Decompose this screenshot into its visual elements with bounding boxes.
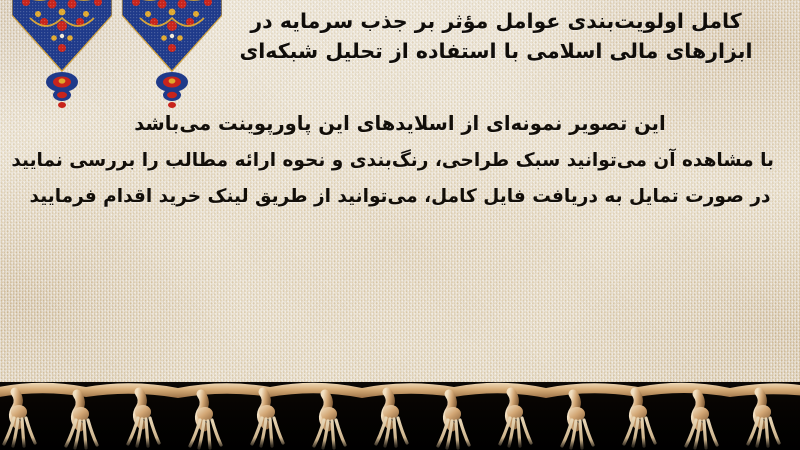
slide-body-line-1: این تصویر نمونه‌ای از اسلایدهای این پاور… bbox=[26, 108, 774, 140]
slide-body-line-3: در صورت تمایل به دریافت فایل کامل، می‌تو… bbox=[26, 182, 774, 212]
slide-title-line-2: ابزارهای مالی اسلامی با استفاده از تحلیل… bbox=[216, 36, 776, 66]
slide-canvas: کامل اولویت‌بندی عوامل مؤثر بر جذب سرمای… bbox=[0, 0, 800, 450]
slide-title: کامل اولویت‌بندی عوامل مؤثر بر جذب سرمای… bbox=[216, 6, 776, 67]
slide-body-line-2: با مشاهده آن می‌توانید سبک طراحی، رنگ‌بن… bbox=[26, 146, 774, 176]
slide-body: این تصویر نمونه‌ای از اسلایدهای این پاور… bbox=[26, 108, 774, 212]
slide-title-line-1: کامل اولویت‌بندی عوامل مؤثر بر جذب سرمای… bbox=[216, 6, 776, 36]
carpet-fringe bbox=[0, 366, 800, 450]
